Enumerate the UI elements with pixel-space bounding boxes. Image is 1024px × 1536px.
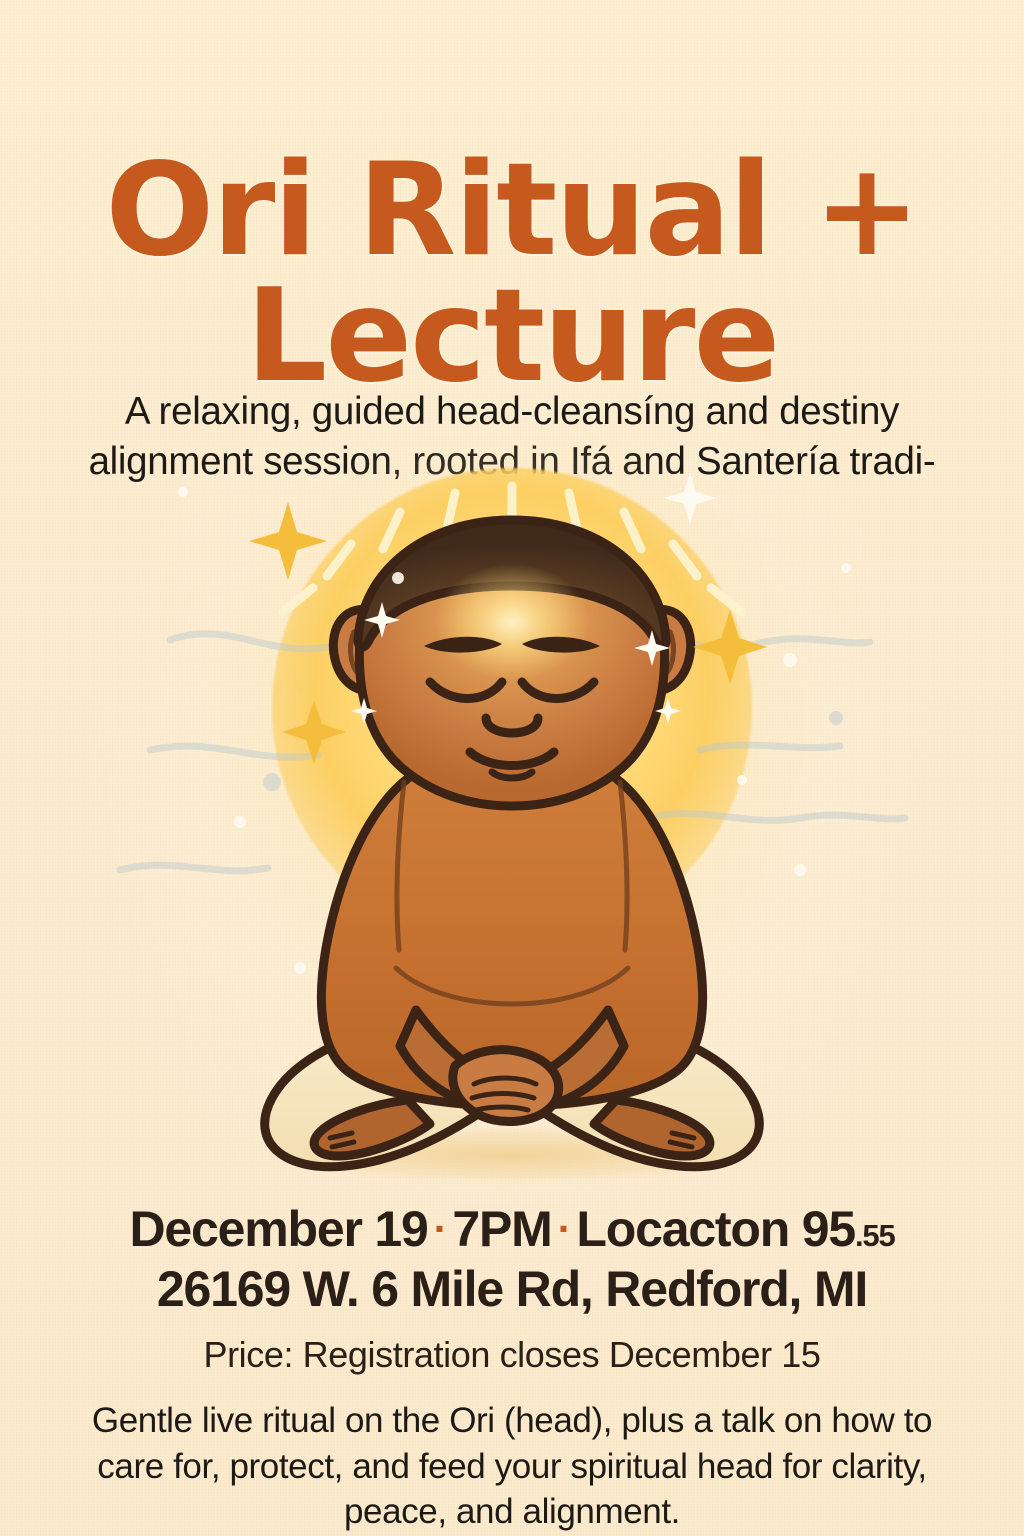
price-whole: 95: [802, 1201, 855, 1257]
title-line-1: Ori Ritual +: [0, 148, 1024, 275]
third-eye-glow: [434, 564, 590, 680]
sparkle-icon-right: [693, 610, 767, 684]
meditation-illustration: [0, 450, 1024, 1210]
price-cents: .55: [855, 1218, 895, 1253]
sparkle-icon-left-upper: [249, 502, 327, 580]
hands: [453, 1050, 559, 1122]
event-address: 26169 W. 6 Mile Rd, Redford, MI: [34, 1260, 990, 1318]
sparkle-icon-white-top-right: [664, 472, 716, 524]
figure-svg: [0, 450, 1024, 1210]
event-description: Gentle live ritual on the Ori (head), pl…: [34, 1398, 990, 1535]
event-details: December 19·7PM·Locacton 95.55 26169 W. …: [34, 1200, 990, 1536]
separator-dot-1: ·: [434, 1205, 447, 1252]
event-date: December 19: [130, 1201, 428, 1257]
event-time: 7PM: [452, 1201, 551, 1257]
poster-canvas: Ori Ritual + Lecture A relaxing, guided …: [0, 0, 1024, 1536]
poster-title: Ori Ritual + Lecture: [0, 148, 1024, 401]
separator-dot-2: ·: [558, 1205, 571, 1252]
date-time-location-line: December 19·7PM·Locacton 95.55: [34, 1200, 990, 1258]
title-line-2: Lecture: [0, 274, 1024, 401]
event-location-label: Locacton: [576, 1201, 789, 1257]
registration-note: Price: Registration closes December 15: [34, 1334, 990, 1376]
